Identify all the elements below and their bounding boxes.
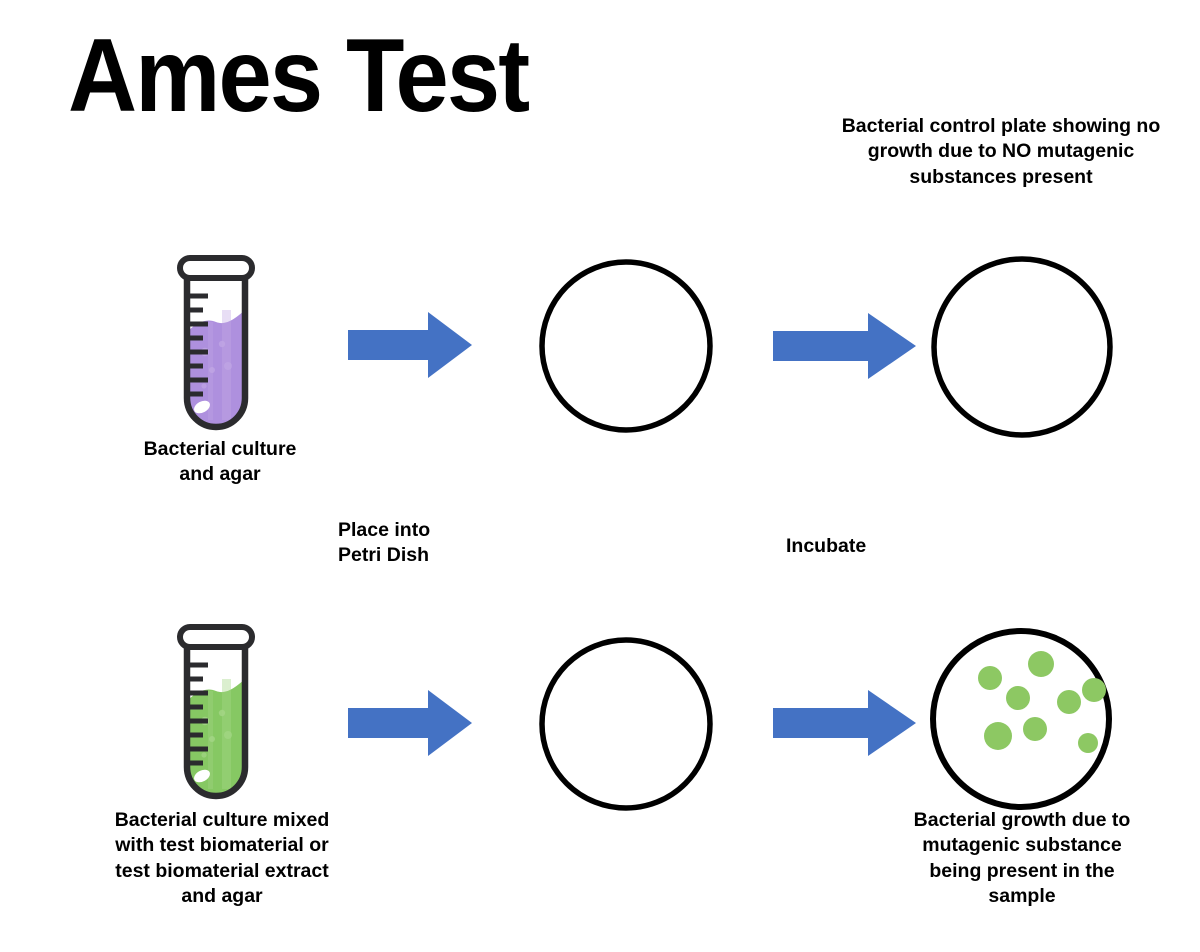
- petri-dish-empty-bottom: [538, 636, 714, 812]
- caption-tube-top: Bacterial culture and agar: [94, 437, 346, 488]
- petri-dish-with-growth: [928, 626, 1114, 812]
- petri-dish-control: [930, 255, 1114, 439]
- arrow-right-icon-1: [348, 312, 472, 378]
- arrow-right-icon-3: [348, 690, 472, 756]
- caption-place-into-petri-dish: Place into Petri Dish: [338, 518, 578, 569]
- bacterial-colony: [1057, 690, 1081, 714]
- bacterial-colony: [1006, 686, 1030, 710]
- bacterial-colony: [1023, 717, 1047, 741]
- arrow-right-icon-2: [773, 313, 916, 379]
- bacterial-colony: [984, 722, 1012, 750]
- caption-incubate: Incubate: [786, 534, 1006, 559]
- test-tube-purple: [160, 248, 272, 432]
- caption-control-plate: Bacterial control plate showing no growt…: [838, 114, 1164, 190]
- petri-dish-empty-top: [538, 258, 714, 434]
- bacterial-colony: [1078, 733, 1098, 753]
- page-title: Ames Test: [68, 22, 528, 130]
- bacterial-colony: [978, 666, 1002, 690]
- caption-tube-bottom: Bacterial culture mixed with test biomat…: [72, 808, 372, 909]
- tube-rim: [180, 627, 252, 647]
- bacterial-colony: [1082, 678, 1106, 702]
- caption-bacterial-growth: Bacterial growth due to mutagenic substa…: [866, 808, 1178, 909]
- tube-rim: [180, 258, 252, 278]
- test-tube-green: [160, 617, 272, 801]
- diagram-canvas: Ames Test: [0, 0, 1200, 952]
- bacterial-colony: [1028, 651, 1054, 677]
- arrow-right-icon-4: [773, 690, 916, 756]
